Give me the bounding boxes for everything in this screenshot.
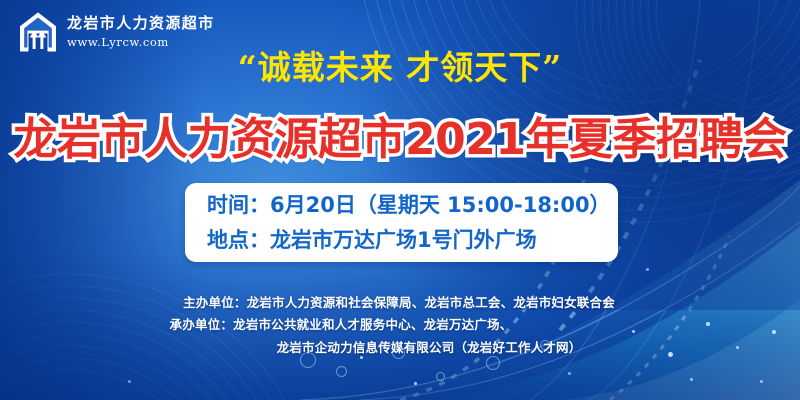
organizers-block: 主办单位：龙岩市人力资源和社会保障局、龙岩市总工会、龙岩市妇女联合会 承办单位：… [0, 292, 800, 359]
headline-container: 龙岩市人力资源超市2021年夏季招聘会 龙岩市人力资源超市2021年夏季招聘会 [0, 103, 800, 163]
brand-name: 龙岩市人力资源超市 [67, 16, 215, 31]
organizer-coordinator: 承办单位：龙岩市公共就业和人才服务中心、龙岩万达广场、 [0, 314, 800, 336]
page-title: 龙岩市人力资源超市2021年夏季招聘会 龙岩市人力资源超市2021年夏季招聘会 [14, 103, 787, 167]
recruitment-banner: 龙岩市人力资源超市 www.Lyrcw.com “诚载未来 才领天下” 龙岩市人… [0, 0, 800, 400]
organizer-coordinator-cont: 龙岩市企动力信息传媒有限公司（龙岩好工作人才网） [0, 337, 800, 359]
organizer-host: 主办单位：龙岩市人力资源和社会保障局、龙岩市总工会、龙岩市妇女联合会 [0, 292, 800, 314]
event-time: 时间：6月20日（星期天 15:00-18:00） [207, 188, 618, 222]
event-info-box: 时间：6月20日（星期天 15:00-18:00） 地点：龙岩市万达广场1号门外… [185, 183, 618, 262]
slogan-text: “诚载未来 才领天下” [0, 41, 800, 89]
event-place: 地点：龙岩市万达广场1号门外广场 [207, 223, 618, 257]
headline-fill: 龙岩市人力资源超市2021年夏季招聘会 [14, 114, 787, 165]
